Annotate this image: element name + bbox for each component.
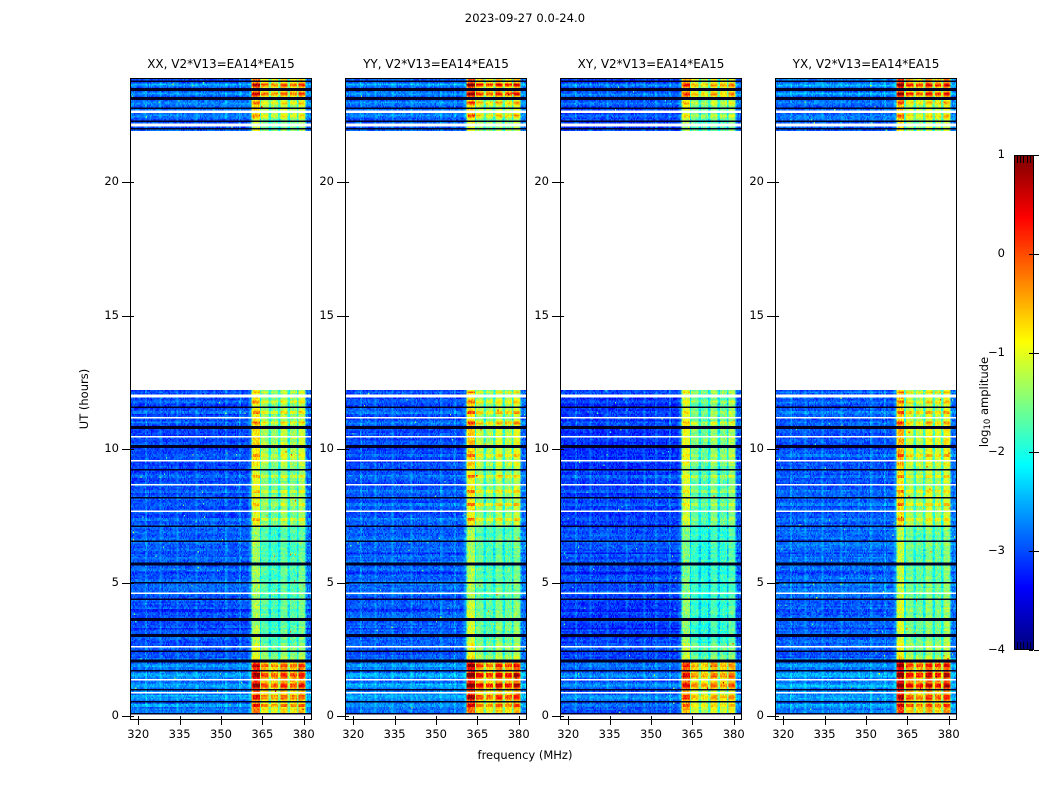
y-tick-mark <box>767 583 775 584</box>
y-tick-label: 0 <box>757 708 764 722</box>
x-tick-mark-inner <box>221 716 222 720</box>
colorbar-tick-mark <box>1034 353 1039 354</box>
y-tick-mark-inner <box>775 316 779 317</box>
x-tick-mark <box>353 720 354 725</box>
y-tick-mark <box>552 583 560 584</box>
colorbar-tick-mark <box>1034 452 1039 453</box>
waterfall-image-yx <box>776 79 956 719</box>
x-tick-mark <box>262 720 263 725</box>
x-tick-mark-inner <box>866 716 867 720</box>
colorbar-tick-mark-inner <box>1029 551 1033 552</box>
x-tick-mark <box>304 720 305 725</box>
x-tick-label: 365 <box>466 727 488 741</box>
x-tick-label: 380 <box>293 727 315 741</box>
plot-area-yy[interactable] <box>345 78 527 720</box>
y-tick-mark-inner <box>560 716 564 717</box>
y-tick-mark <box>552 316 560 317</box>
x-tick-label: 350 <box>855 727 877 741</box>
colorbar-tick-mark-inner <box>1029 353 1033 354</box>
colorbar-tick-mark <box>1034 155 1039 156</box>
y-tick-label: 0 <box>542 708 549 722</box>
y-tick-mark <box>122 449 130 450</box>
y-tick-mark <box>122 316 130 317</box>
waterfall-image-xy <box>561 79 741 719</box>
figure-suptitle: 2023-09-27 0.0-24.0 <box>0 11 1050 25</box>
y-tick-label: 20 <box>534 174 549 188</box>
colorbar-minor-tick <box>1017 156 1018 163</box>
y-tick-mark <box>337 449 345 450</box>
y-tick-mark <box>767 449 775 450</box>
x-tick-label: 365 <box>251 727 273 741</box>
colorbar-minor-tick <box>1017 642 1018 649</box>
colorbar-label-subscript: 10 <box>983 419 993 430</box>
colorbar-minor-tick <box>1020 642 1021 649</box>
colorbar-tick-mark <box>1034 650 1039 651</box>
y-tick-mark <box>337 716 345 717</box>
y-tick-label: 10 <box>319 441 334 455</box>
colorbar-tick-mark <box>1034 254 1039 255</box>
y-tick-label: 15 <box>534 308 549 322</box>
x-tick-mark <box>949 720 950 725</box>
x-tick-label: 350 <box>210 727 232 741</box>
x-tick-mark-inner <box>692 716 693 720</box>
y-tick-mark <box>337 583 345 584</box>
y-tick-mark-inner <box>130 583 134 584</box>
x-tick-mark <box>568 720 569 725</box>
x-tick-label: 350 <box>425 727 447 741</box>
x-tick-mark <box>395 720 396 725</box>
x-tick-label: 350 <box>640 727 662 741</box>
panel-yx: YX, V2*V13=EA14*EA1505101520320335350365… <box>775 78 957 720</box>
y-tick-label: 5 <box>327 575 334 589</box>
y-tick-label: 20 <box>749 174 764 188</box>
y-tick-mark-inner <box>130 182 134 183</box>
y-tick-mark-inner <box>130 449 134 450</box>
x-tick-mark-inner <box>568 716 569 720</box>
x-tick-label: 320 <box>772 727 794 741</box>
x-tick-mark-inner <box>477 716 478 720</box>
colorbar-tick-label: −3 <box>988 543 1005 557</box>
colorbar-minor-tick <box>1027 642 1028 649</box>
plot-area-yx[interactable] <box>775 78 957 720</box>
y-tick-mark-inner <box>130 316 134 317</box>
y-tick-label: 15 <box>319 308 334 322</box>
x-tick-mark <box>221 720 222 725</box>
colorbar-tick-mark-inner <box>1029 452 1033 453</box>
x-tick-mark-inner <box>783 716 784 720</box>
x-tick-mark <box>138 720 139 725</box>
x-tick-mark <box>519 720 520 725</box>
colorbar-minor-tick <box>1023 642 1024 649</box>
waterfall-image-yy <box>346 79 526 719</box>
x-tick-label: 380 <box>723 727 745 741</box>
y-tick-mark <box>552 449 560 450</box>
y-tick-mark-inner <box>560 583 564 584</box>
y-tick-label: 20 <box>319 174 334 188</box>
x-tick-label: 335 <box>599 727 621 741</box>
y-tick-label: 10 <box>534 441 549 455</box>
colorbar-gradient <box>1015 156 1033 649</box>
x-axis-label: frequency (MHz) <box>0 748 1050 762</box>
colorbar-minor-tick <box>1023 156 1024 163</box>
panel-title-yy: YY, V2*V13=EA14*EA15 <box>345 57 527 71</box>
x-tick-label: 320 <box>342 727 364 741</box>
y-tick-mark-inner <box>560 449 564 450</box>
colorbar-tick-label: 1 <box>998 147 1005 161</box>
x-tick-label: 365 <box>896 727 918 741</box>
y-tick-mark-inner <box>560 182 564 183</box>
x-tick-label: 335 <box>814 727 836 741</box>
colorbar-tick-mark-inner <box>1029 254 1033 255</box>
colorbar[interactable] <box>1014 155 1034 650</box>
panel-title-xy: XY, V2*V13=EA14*EA15 <box>560 57 742 71</box>
x-tick-mark-inner <box>610 716 611 720</box>
y-tick-mark <box>122 583 130 584</box>
y-tick-mark-inner <box>560 316 564 317</box>
y-tick-label: 5 <box>542 575 549 589</box>
y-tick-mark-inner <box>775 716 779 717</box>
x-tick-mark <box>436 720 437 725</box>
x-tick-mark-inner <box>734 716 735 720</box>
x-tick-mark-inner <box>651 716 652 720</box>
y-tick-mark <box>767 182 775 183</box>
x-tick-mark-inner <box>949 716 950 720</box>
y-axis-label: UT (hours) <box>77 369 91 429</box>
y-tick-mark <box>337 182 345 183</box>
x-tick-label: 380 <box>938 727 960 741</box>
x-tick-label: 380 <box>508 727 530 741</box>
colorbar-minor-tick <box>1020 156 1021 163</box>
x-tick-mark-inner <box>519 716 520 720</box>
x-tick-mark-inner <box>436 716 437 720</box>
y-tick-mark <box>767 716 775 717</box>
y-tick-label: 10 <box>104 441 119 455</box>
x-tick-label: 320 <box>557 727 579 741</box>
y-tick-label: 5 <box>112 575 119 589</box>
panel-title-xx: XX, V2*V13=EA14*EA15 <box>130 57 312 71</box>
plot-area-xx[interactable] <box>130 78 312 720</box>
y-tick-label: 0 <box>327 708 334 722</box>
plot-area-xy[interactable] <box>560 78 742 720</box>
x-tick-mark <box>734 720 735 725</box>
colorbar-label-prefix: log <box>977 430 991 448</box>
y-tick-label: 15 <box>749 308 764 322</box>
x-tick-mark-inner <box>353 716 354 720</box>
x-tick-mark-inner <box>825 716 826 720</box>
y-tick-label: 10 <box>749 441 764 455</box>
x-tick-mark <box>692 720 693 725</box>
x-tick-mark-inner <box>138 716 139 720</box>
x-tick-label: 335 <box>169 727 191 741</box>
panel-xx: XX, V2*V13=EA14*EA1505101520320335350365… <box>130 78 312 720</box>
x-tick-mark <box>651 720 652 725</box>
y-tick-mark-inner <box>345 449 349 450</box>
x-tick-mark <box>866 720 867 725</box>
x-tick-mark-inner <box>180 716 181 720</box>
waterfall-canvas <box>131 79 311 719</box>
y-tick-mark <box>122 182 130 183</box>
y-tick-mark <box>767 316 775 317</box>
y-tick-mark-inner <box>775 583 779 584</box>
y-tick-mark-inner <box>345 316 349 317</box>
y-tick-mark <box>122 716 130 717</box>
y-tick-label: 15 <box>104 308 119 322</box>
x-tick-mark <box>783 720 784 725</box>
y-tick-mark <box>552 716 560 717</box>
x-tick-label: 320 <box>127 727 149 741</box>
colorbar-tick-label: 0 <box>998 246 1005 260</box>
waterfall-image-xx <box>131 79 311 719</box>
x-tick-mark-inner <box>262 716 263 720</box>
y-tick-mark-inner <box>130 716 134 717</box>
x-tick-mark <box>907 720 908 725</box>
figure-canvas: 2023-09-27 0.0-24.0 XX, V2*V13=EA14*EA15… <box>0 0 1050 800</box>
x-tick-label: 335 <box>384 727 406 741</box>
y-tick-mark <box>337 316 345 317</box>
panel-yy: YY, V2*V13=EA14*EA1505101520320335350365… <box>345 78 527 720</box>
y-tick-label: 0 <box>112 708 119 722</box>
y-tick-mark-inner <box>775 182 779 183</box>
colorbar-label: log10 amplitude <box>977 357 993 447</box>
x-tick-label: 365 <box>681 727 703 741</box>
x-tick-mark-inner <box>395 716 396 720</box>
y-tick-mark-inner <box>345 716 349 717</box>
y-tick-label: 5 <box>757 575 764 589</box>
x-tick-mark-inner <box>304 716 305 720</box>
colorbar-tick-mark-inner <box>1029 650 1033 651</box>
x-tick-mark <box>180 720 181 725</box>
y-tick-mark-inner <box>345 583 349 584</box>
colorbar-tick-label: −4 <box>988 642 1005 656</box>
x-tick-mark <box>477 720 478 725</box>
x-tick-mark <box>610 720 611 725</box>
y-tick-mark <box>552 182 560 183</box>
x-tick-mark <box>825 720 826 725</box>
x-tick-mark-inner <box>907 716 908 720</box>
y-tick-mark-inner <box>345 182 349 183</box>
panel-xy: XY, V2*V13=EA14*EA1505101520320335350365… <box>560 78 742 720</box>
y-tick-label: 20 <box>104 174 119 188</box>
y-tick-mark-inner <box>775 449 779 450</box>
panel-title-yx: YX, V2*V13=EA14*EA15 <box>775 57 957 71</box>
colorbar-minor-tick <box>1030 642 1031 649</box>
colorbar-tick-mark <box>1034 551 1039 552</box>
waterfall-canvas <box>346 79 526 719</box>
colorbar-label-suffix: amplitude <box>977 357 991 419</box>
colorbar-minor-tick <box>1027 156 1028 163</box>
waterfall-canvas <box>776 79 956 719</box>
waterfall-canvas <box>561 79 741 719</box>
colorbar-minor-tick <box>1030 156 1031 163</box>
